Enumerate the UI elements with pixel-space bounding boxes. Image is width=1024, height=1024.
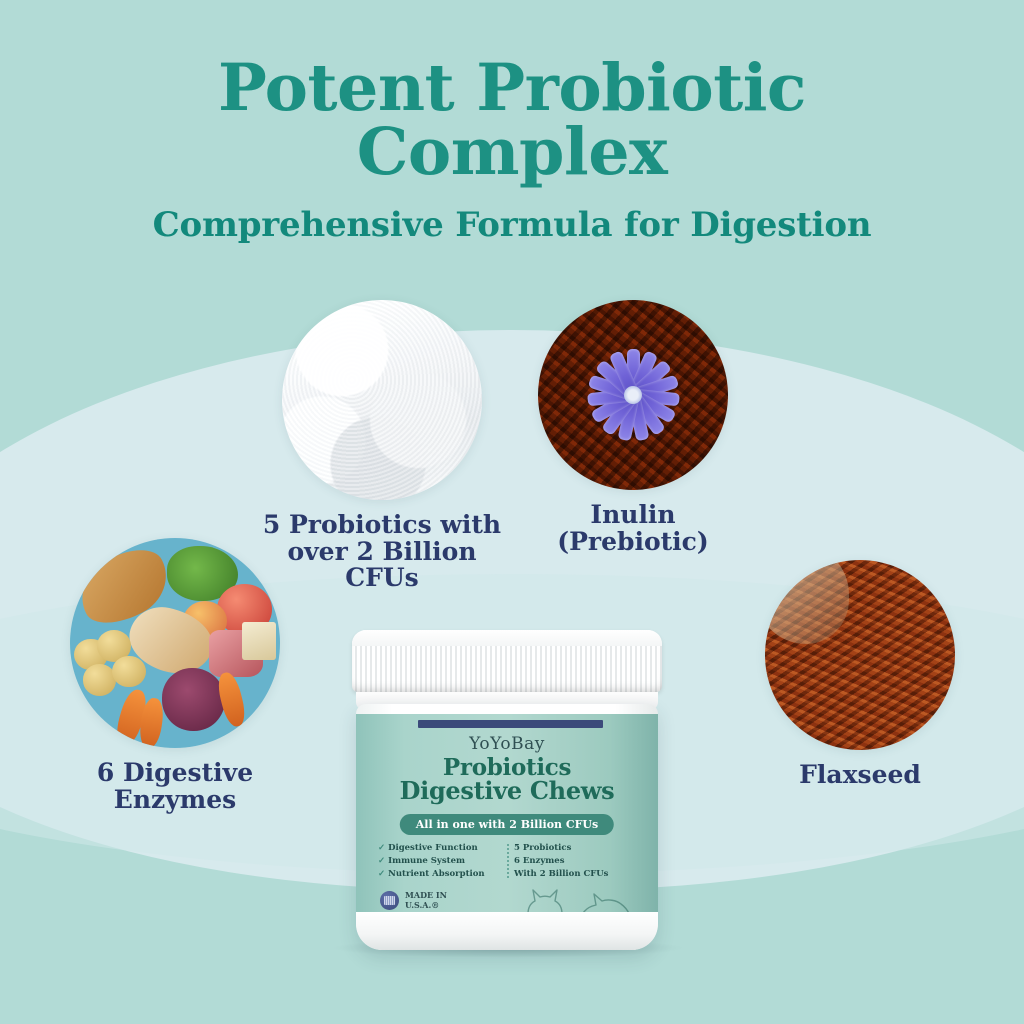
benefit-item: Digestive Function [378,842,504,855]
feature-inulin: Inulin (Prebiotic) [538,300,728,555]
subheadline: Comprehensive Formula for Digestion [0,207,1024,244]
flaxseed-image [765,560,955,750]
chicory-image [538,300,728,490]
feature-probiotics: 5 Probiotics with over 2 Billion CFUs [282,300,482,592]
feature-flaxseed: Flaxseed [765,560,955,789]
feature-inulin-caption: Inulin (Prebiotic) [518,502,748,555]
flaxseed-texture [765,560,955,750]
benefit-divider [507,844,509,878]
caption-line-2: Enzymes [114,785,236,814]
product-jar: YoYoBay Probiotics Digestive Chews All i… [342,630,672,950]
food-flatlay-image [70,538,280,748]
jar-lid [352,630,662,692]
product-infographic: Potent Probiotic Complex Comprehensive F… [0,0,1024,1024]
jar-body: YoYoBay Probiotics Digestive Chews All i… [356,704,658,950]
cat-and-dog-outline-icon [502,874,652,914]
jar-base [356,912,658,950]
usa-flag-seal-icon [380,891,399,910]
chicory-flower-icon [585,347,681,443]
benefit-item: 6 Enzymes [514,855,640,868]
benefit-item: Nutrient Absorption [378,868,504,881]
caption-line-1: 6 Digestive [97,758,253,787]
product-badge: All in one with 2 Billion CFUs [400,814,614,835]
made-in-usa-block: MADE IN U.S.A.® [380,890,447,910]
benefit-item: Immune System [378,855,504,868]
chicory-root-texture [538,300,728,490]
feature-enzymes: 6 Digestive Enzymes [70,538,280,813]
made-in-line-2: U.S.A.® [405,900,447,910]
label-accent-bar [418,720,603,728]
caption-line-1: Inulin [590,500,675,529]
caption-line-2: (Prebiotic) [557,527,708,556]
brand-name: YoYoBay [356,734,658,754]
powder-image [282,300,482,500]
feature-enzymes-caption: 6 Digestive Enzymes [50,760,300,813]
white-powder-texture [282,300,482,500]
page-title: Potent Probiotic Complex [0,56,1024,185]
food-flatlay-texture [70,538,280,748]
headline-line-2: Complex [0,120,1024,184]
benefit-item: 5 Probiotics [514,842,640,855]
product-title: Probiotics Digestive Chews [356,756,658,804]
feature-flaxseed-caption: Flaxseed [745,762,975,789]
headline-block: Potent Probiotic Complex Comprehensive F… [0,56,1024,244]
caption-line-1: Flaxseed [799,760,921,789]
product-title-line-2: Digestive Chews [356,779,658,803]
made-in-line-1: MADE IN [405,890,447,900]
caption-line-1: 5 Probiotics with [263,510,501,539]
made-in-usa-text: MADE IN U.S.A.® [405,890,447,910]
caption-line-2: over 2 Billion CFUs [287,537,476,593]
benefits-left-column: Digestive Function Immune System Nutrien… [378,842,504,882]
product-label: YoYoBay Probiotics Digestive Chews All i… [356,714,658,914]
feature-probiotics-caption: 5 Probiotics with over 2 Billion CFUs [247,512,517,592]
